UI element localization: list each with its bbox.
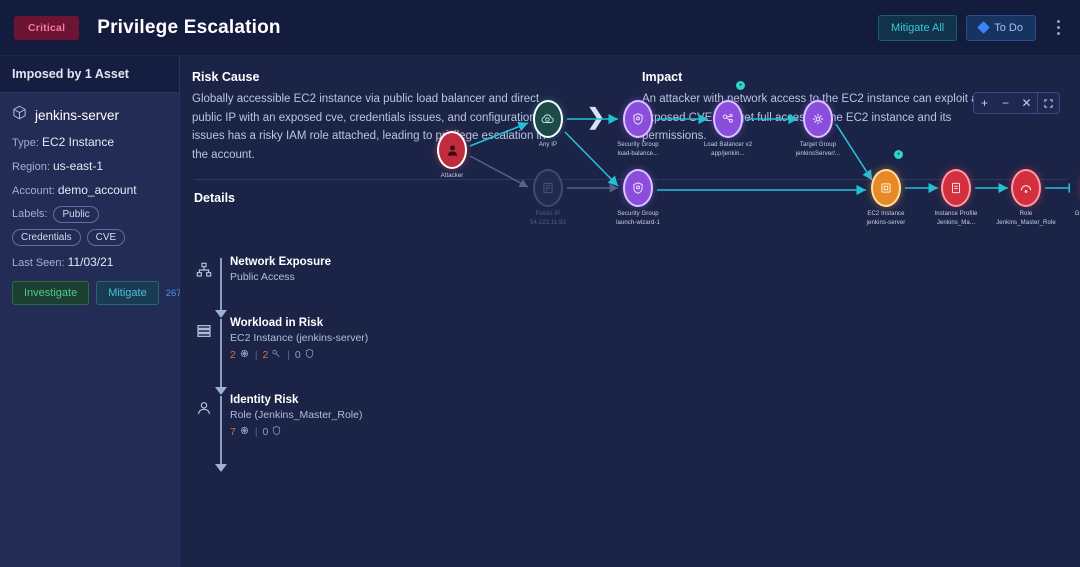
to-do-label: To Do	[994, 22, 1023, 34]
count-separator: |	[255, 427, 258, 438]
asset-field-region-key: Region:	[12, 161, 50, 173]
main-panel: Risk Cause Globally accessible EC2 insta…	[180, 56, 1080, 567]
page-header: Critical Privilege Escalation Mitigate A…	[0, 0, 1080, 56]
asset-labels-caption: Labels:	[12, 208, 47, 220]
server-stack-icon	[194, 321, 214, 341]
asset-last-seen-value: 11/03/21	[68, 255, 114, 269]
asset-field-type-value: EC2 Instance	[42, 135, 114, 149]
step-title: Workload in Risk	[230, 317, 394, 329]
investigate-button[interactable]: Investigate	[12, 281, 89, 305]
attacker-icon	[437, 131, 467, 169]
load-balancer-icon: +	[713, 100, 743, 138]
step-title: Identity Risk	[230, 394, 394, 406]
label-chip-credentials[interactable]: Credentials	[12, 229, 81, 246]
mitigate-button[interactable]: Mitigate	[96, 281, 159, 305]
asset-sidebar: Imposed by 1 Asset jenkins-server Type: …	[0, 56, 180, 567]
kebab-menu-icon[interactable]	[1050, 17, 1066, 39]
step-identity-risk[interactable]: Identity Risk Role (Jenkins_Master_Role)…	[194, 394, 394, 462]
graph-node-label: Load Balancer v2 app/jenkin...	[676, 141, 780, 158]
step-counts: 2 | 2 | 0	[230, 348, 394, 362]
step-subtitle: Public Access	[230, 271, 394, 283]
step-connector	[220, 258, 222, 310]
graph-node-label: Security Group load-balance...	[586, 141, 690, 158]
asset-row[interactable]: jenkins-server	[12, 105, 167, 125]
asset-last-seen-key: Last Seen:	[12, 257, 65, 269]
count-config: 0	[262, 426, 268, 438]
cube-icon	[12, 105, 27, 125]
count-vulnerabilities: 7	[230, 426, 236, 438]
risk-detail-page: Critical Privilege Escalation Mitigate A…	[0, 0, 1080, 567]
step-workload-in-risk[interactable]: Workload in Risk EC2 Instance (jenkins-s…	[194, 317, 394, 385]
step-network-exposure[interactable]: Network Exposure Public Access	[194, 256, 394, 308]
asset-field-account: Account: demo_account	[12, 182, 167, 199]
node-badge-icon: +	[893, 149, 904, 160]
count-separator: |	[287, 350, 290, 361]
target-group-icon	[803, 100, 833, 138]
cloud-globe-icon	[533, 100, 563, 138]
asset-labels: Labels: Public Credentials CVE	[12, 206, 167, 246]
asset-field-region-value: us-east-1	[53, 159, 103, 173]
step-counts: 7 | 0	[230, 425, 394, 439]
asset-field-type-key: Type:	[12, 137, 39, 149]
node-badge-icon: +	[735, 80, 746, 91]
graph-node-label: Target Group jenkinsServer/...	[766, 141, 870, 158]
count-separator: |	[255, 350, 258, 361]
vulnerability-icon	[239, 348, 250, 362]
step-subtitle: Role (Jenkins_Master_Role)	[230, 409, 394, 421]
graph-node-label: Public IP 54.222.11.93	[496, 210, 600, 227]
graph-edges	[410, 92, 1070, 382]
label-chip-cve[interactable]: CVE	[87, 229, 126, 246]
step-connector	[220, 319, 222, 387]
security-group-icon	[623, 169, 653, 207]
shield-icon	[271, 425, 282, 439]
user-icon	[194, 398, 214, 418]
security-group-icon	[623, 100, 653, 138]
count-credentials: 2	[262, 349, 268, 361]
attack-path-graph[interactable]: + − ✕	[410, 92, 1070, 382]
graph-node-label: Any IP	[496, 141, 600, 150]
mitigate-all-button[interactable]: Mitigate All	[878, 15, 957, 41]
sidebar-action-row: Investigate Mitigate 267	[12, 281, 167, 305]
asset-field-region: Region: us-east-1	[12, 158, 167, 175]
graph-node-label: Security Group launch-wizard-1	[586, 210, 690, 227]
label-chip-public[interactable]: Public	[53, 206, 98, 223]
asset-field-type: Type: EC2 Instance	[12, 134, 167, 151]
count-config: 0	[295, 349, 301, 361]
step-connector	[220, 396, 222, 464]
role-icon	[1011, 169, 1041, 207]
asset-field-account-key: Account:	[12, 185, 55, 197]
page-title: Privilege Escalation	[97, 17, 281, 39]
step-arrow-icon	[215, 464, 227, 472]
graph-node-label: Attacker	[400, 172, 504, 181]
details-steps: Network Exposure Public Access Workload …	[194, 256, 394, 471]
count-vulnerabilities: 2	[230, 349, 236, 361]
status-badge: Critical	[14, 16, 79, 40]
step-subtitle: EC2 Instance (jenkins-server)	[230, 332, 394, 344]
asset-field-account-value: demo_account	[58, 183, 137, 197]
ip-address-icon	[533, 169, 563, 207]
step-title: Network Exposure	[230, 256, 394, 268]
to-do-button[interactable]: To Do	[966, 15, 1036, 41]
shield-icon	[304, 348, 315, 362]
sidebar-heading: Imposed by 1 Asset	[0, 56, 179, 93]
network-nodes-icon	[194, 260, 214, 280]
to-do-diamond-icon	[977, 21, 990, 34]
risk-cause-title: Risk Cause	[192, 70, 558, 84]
sidebar-body: jenkins-server Type: EC2 Instance Region…	[0, 93, 179, 313]
key-icon	[271, 348, 282, 362]
graph-node-label: Grouped Policy	[1044, 210, 1080, 219]
impact-title: Impact	[642, 70, 1008, 84]
ec2-instance-icon: +	[871, 169, 901, 207]
asset-last-seen: Last Seen: 11/03/21	[12, 254, 167, 271]
vulnerability-icon	[239, 425, 250, 439]
asset-name: jenkins-server	[35, 108, 119, 123]
instance-profile-icon	[941, 169, 971, 207]
